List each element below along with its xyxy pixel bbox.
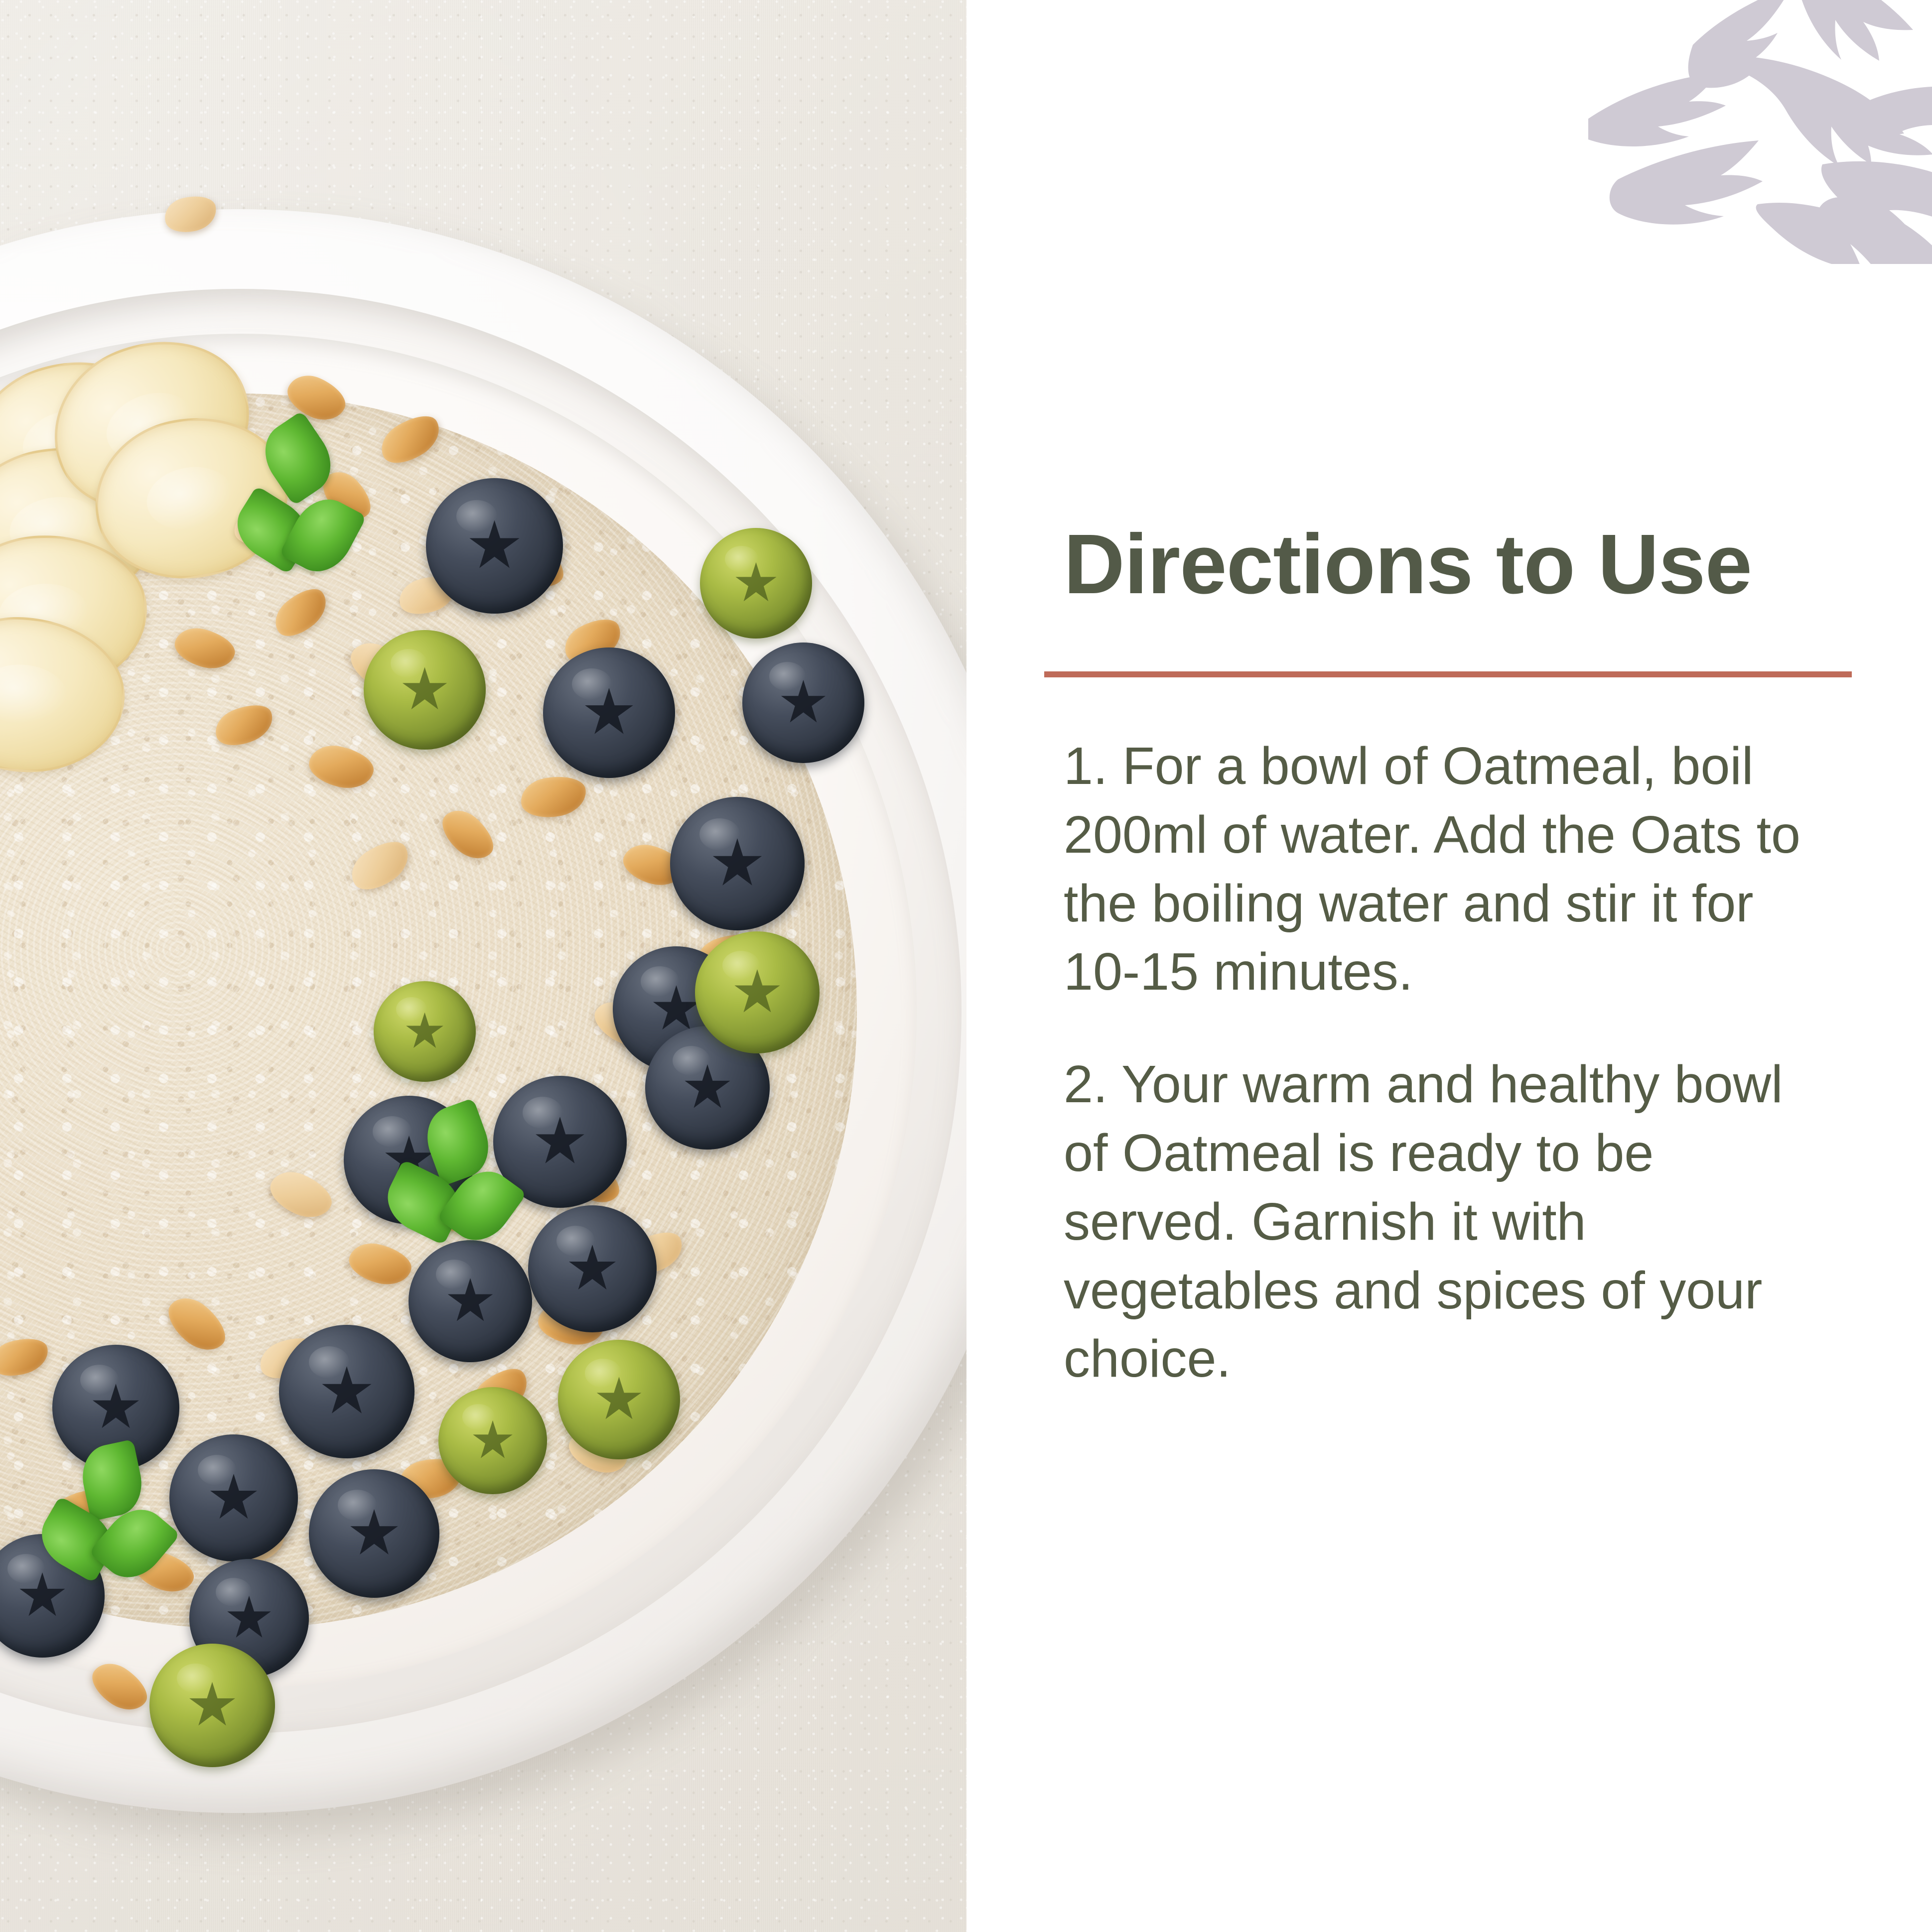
green-berry bbox=[374, 981, 476, 1082]
blueberry bbox=[279, 1325, 414, 1458]
blueberry bbox=[309, 1469, 439, 1598]
mint-leaf-sprig bbox=[394, 1106, 518, 1255]
mint-leaf-sprig bbox=[239, 421, 359, 590]
blueberry bbox=[409, 1240, 532, 1362]
title-divider bbox=[1044, 671, 1852, 677]
green-berry bbox=[695, 931, 820, 1053]
mint-leaf-sprig bbox=[47, 1444, 172, 1594]
blueberry bbox=[169, 1434, 298, 1561]
blueberry bbox=[528, 1205, 657, 1332]
green-berry bbox=[558, 1340, 680, 1459]
blueberry bbox=[742, 643, 864, 763]
direction-step: 2. Your warm and healthy bowl of Oatmeal… bbox=[1064, 1050, 1841, 1394]
green-berry bbox=[364, 630, 486, 750]
directions-list: 1. For a bowl of Oatmeal, boil 200ml of … bbox=[1064, 732, 1846, 1394]
green-berry bbox=[149, 1644, 275, 1767]
green-berry bbox=[700, 528, 812, 639]
blueberry bbox=[426, 478, 563, 614]
green-berry bbox=[438, 1387, 547, 1494]
blueberry bbox=[543, 647, 675, 778]
content-panel: Directions to Use 1. For a bowl of Oatme… bbox=[1044, 0, 1891, 1932]
page-title: Directions to Use bbox=[1064, 520, 1881, 609]
blueberry bbox=[670, 797, 805, 930]
food-photo bbox=[0, 0, 966, 1932]
direction-step: 1. For a bowl of Oatmeal, boil 200ml of … bbox=[1064, 732, 1841, 1007]
